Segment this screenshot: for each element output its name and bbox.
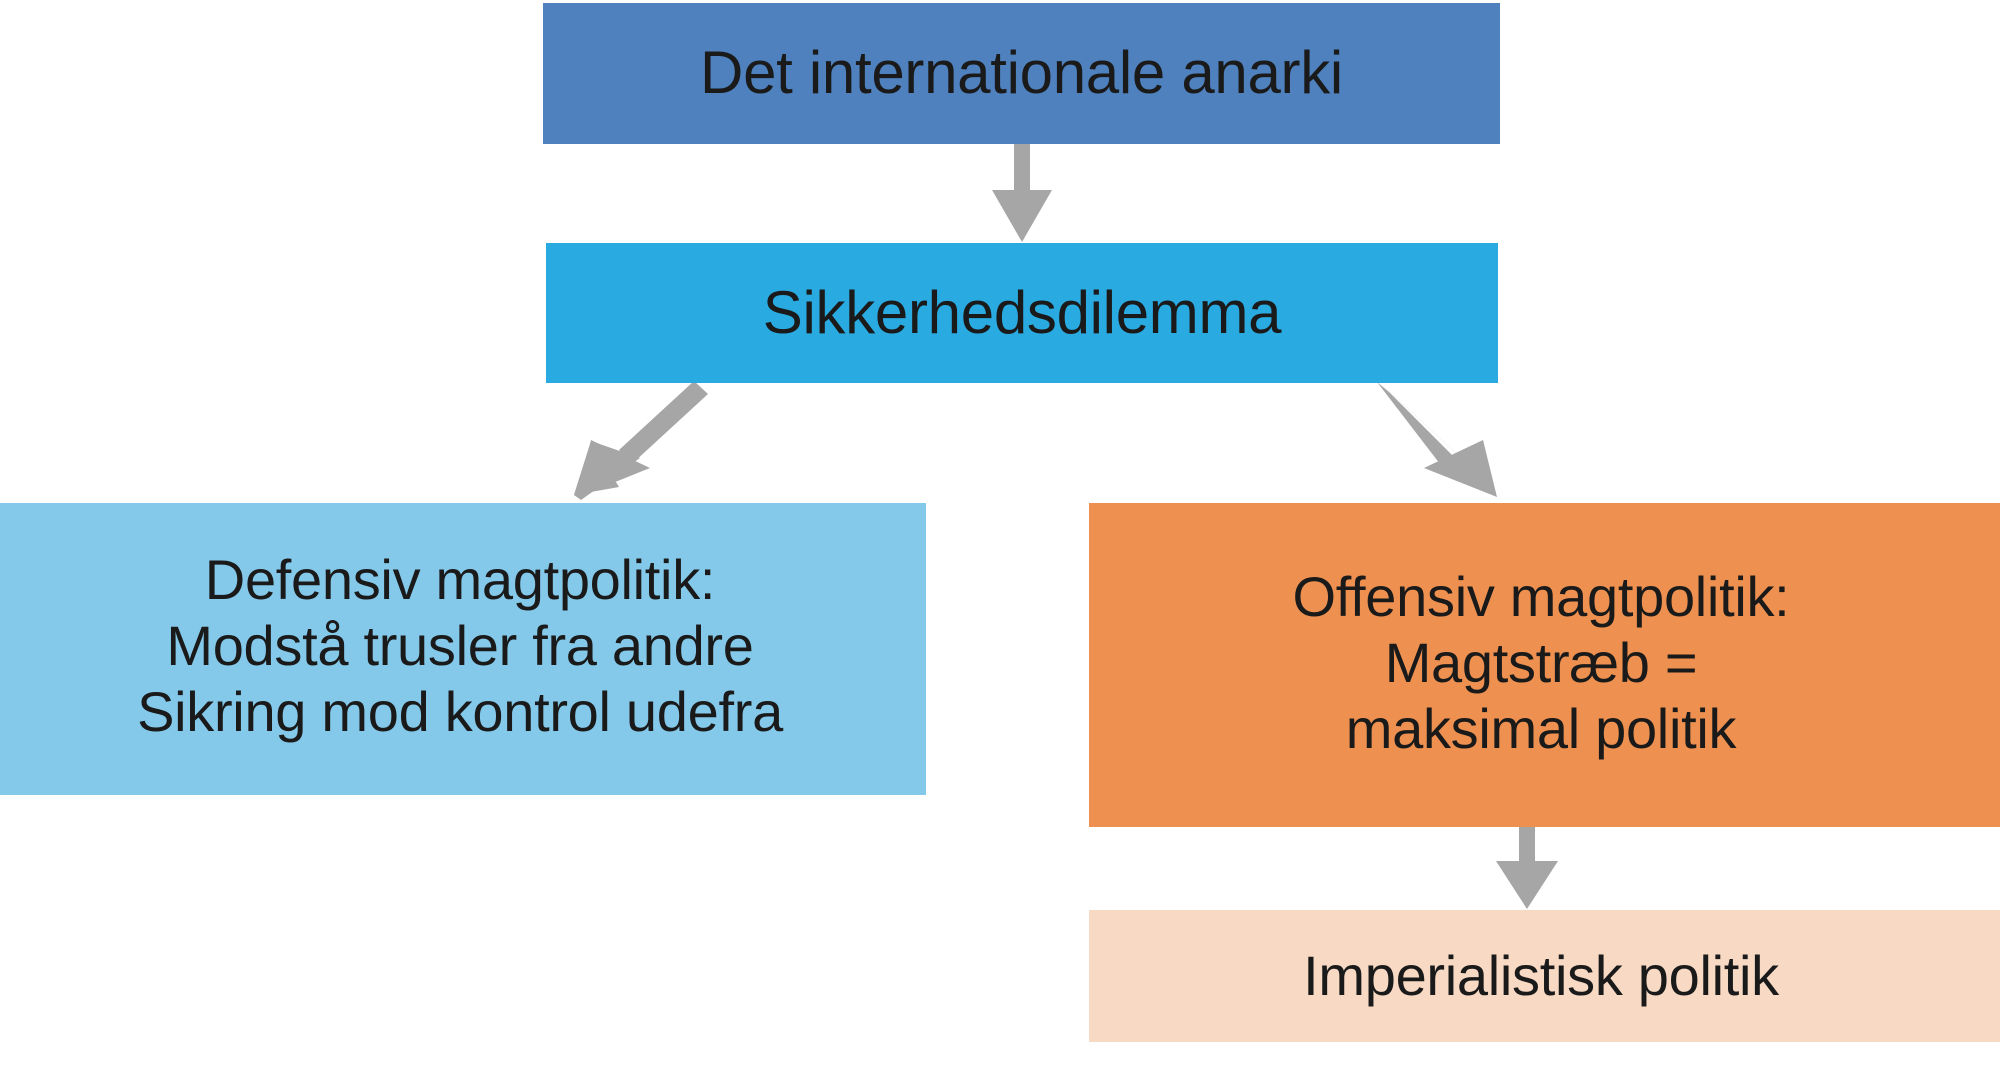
arrow-offensiv-to-imperialistisk (1496, 827, 1558, 909)
node-det-internationale-anarki: Det internationale anarki (543, 3, 1500, 144)
node-label: Det internationale anarki (700, 38, 1343, 109)
node-defensiv-magtpolitik: Defensiv magtpolitik: Modstå trusler fra… (0, 503, 926, 795)
node-label: Imperialistisk politik (1303, 943, 1779, 1009)
flowchart-diagram: Det internationale anarki Sikkerhedsdile… (0, 0, 2000, 1082)
node-sikkerhedsdilemma: Sikkerhedsdilemma (546, 243, 1498, 383)
node-label: Sikkerhedsdilemma (763, 278, 1281, 349)
node-label: Defensiv magtpolitik: Modstå trusler fra… (137, 547, 783, 745)
node-imperialistisk-politik: Imperialistisk politik (1089, 910, 2000, 1042)
arrow-anarki-to-sikkerhedsdilemma (992, 144, 1052, 242)
arrow-sikkerhedsdilemma-to-defensiv (574, 381, 708, 500)
node-label: Offensiv magtpolitik: Magtstræb = maksim… (1293, 564, 1790, 762)
node-offensiv-magtpolitik: Offensiv magtpolitik: Magtstræb = maksim… (1089, 503, 2000, 827)
arrow-sikkerhedsdilemma-to-offensiv (1377, 381, 1497, 497)
